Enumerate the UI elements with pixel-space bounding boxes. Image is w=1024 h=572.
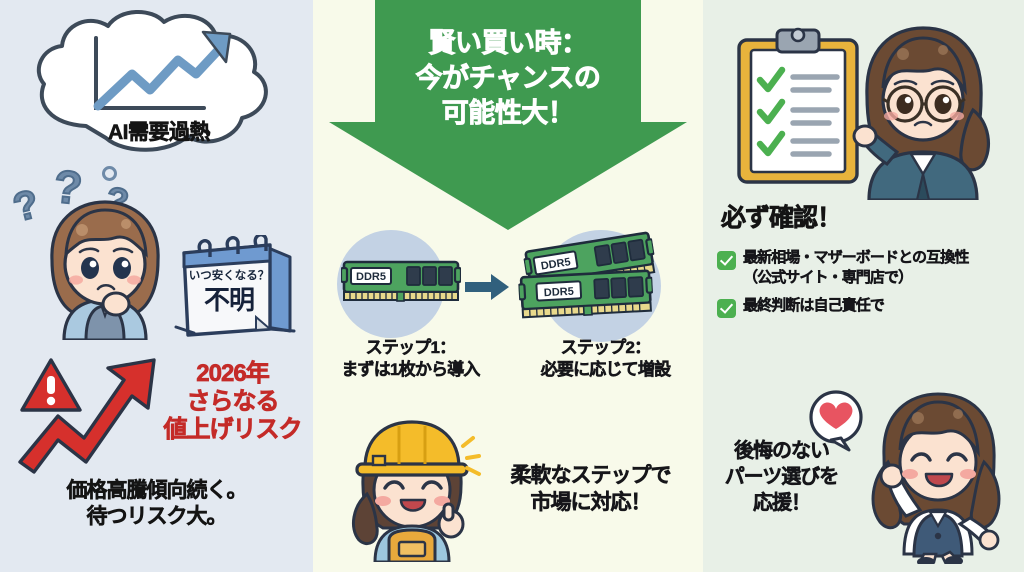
must-check-heading: 必ず確認！ [721, 198, 841, 234]
teacher-girl-with-pointer-illustration [831, 14, 1006, 200]
check-icon [717, 299, 736, 318]
green-down-arrow-banner: 賢い買い時： 今がチャンスの 可能性大！ [313, 0, 703, 232]
ram-upgrade-diagram: DDR5 [313, 228, 703, 338]
thought-dot-icon [102, 166, 117, 181]
check-text: 最新相場・マザーボードとの互換性 （公式サイト・専門店で） [743, 248, 968, 289]
check-icon [717, 251, 736, 270]
construction-worker-girl-illustration [337, 412, 487, 562]
svg-text:DDR5: DDR5 [356, 271, 386, 283]
check-line: 最終判断は自己責任で [743, 296, 884, 316]
check-list: 最新相場・マザーボードとの互換性 （公式サイト・専門店で） 最終判断は自己責任で [717, 248, 1021, 325]
footer-line: 価格高騰傾向続く。 [0, 478, 313, 504]
cheer-line: パーツ選びを [709, 464, 854, 490]
ram-stick-stacked-front: DDR5 [518, 267, 654, 324]
step-1: ステップ1： まずは1枚から導入 [313, 337, 508, 381]
infographic-root: AI需要過熱 ? ? ? [0, 0, 1024, 572]
panel-middle: 賢い買い時： 今がチャンスの 可能性大！ [313, 0, 703, 572]
check-row: 最新相場・マザーボードとの互換性 （公式サイト・専門店で） [717, 248, 1021, 289]
warning-triangle-icon [20, 356, 82, 414]
risk-line: 値上げリスク [155, 416, 310, 444]
panel-right: 必ず確認！ 最新相場・マザーボードとの互換性 （公式サイト・専門店で） 最終判断… [703, 0, 1024, 572]
check-row: 最終判断は自己責任で [717, 296, 1021, 318]
step-labels: ステップ1： まずは1枚から導入 ステップ2： 必要に応じて増設 [313, 337, 703, 381]
risk-line: 2026年 [155, 360, 310, 388]
step-desc: 必要に応じて増設 [508, 359, 703, 381]
step-2: ステップ2： 必要に応じて増設 [508, 337, 703, 381]
risk-line: さらなる [155, 388, 310, 416]
arrow-text-line: 可能性大！ [313, 96, 703, 131]
step-desc: まずは1枚から導入 [313, 359, 508, 381]
worried-girl-illustration [30, 190, 180, 340]
step-title: ステップ1： [313, 337, 508, 359]
footer-line: 待つリスク大。 [0, 504, 313, 530]
check-line: 最新相場・マザーボードとの互換性 [743, 248, 968, 268]
price-risk-heading: 2026年 さらなる 値上げリスク [155, 360, 310, 443]
ram-stick-single: DDR5 [341, 258, 461, 304]
check-text: 最終判断は自己責任で [743, 296, 884, 316]
right-arrow-icon [463, 272, 511, 302]
arrow-text-line: 賢い買い時： [313, 26, 703, 61]
step-title: ステップ2： [508, 337, 703, 359]
cheer-line: 応援！ [709, 490, 854, 516]
red-up-arrow-icon [12, 350, 162, 475]
left-panel-footer: 価格高騰傾向続く。 待つリスク大。 [0, 478, 313, 531]
arrow-text-line: 今がチャンスの [313, 61, 703, 96]
cloud-label: AI需要過熱 [28, 116, 290, 146]
check-line: （公式サイト・専門店で） [743, 268, 968, 288]
worker-line: 市場に対応！ [483, 489, 698, 516]
worker-line: 柔軟なステップで [483, 462, 698, 489]
worker-message: 柔軟なステップで 市場に対応！ [483, 462, 698, 517]
cheer-message: 後悔のない パーツ選びを 応援！ [709, 438, 854, 516]
thought-cloud: AI需要過熱 [28, 8, 290, 176]
calendar-illustration: いつ安くなる？ 不明 [170, 235, 298, 345]
svg-text:DDR5: DDR5 [544, 286, 575, 300]
cheer-line: 後悔のない [709, 438, 854, 464]
calendar-answer: 不明 [186, 280, 272, 317]
green-arrow-text: 賢い買い時： 今がチャンスの 可能性大！ [313, 26, 703, 131]
cheering-girl-illustration [858, 384, 1013, 564]
panel-left: AI需要過熱 ? ? ? [0, 0, 313, 572]
